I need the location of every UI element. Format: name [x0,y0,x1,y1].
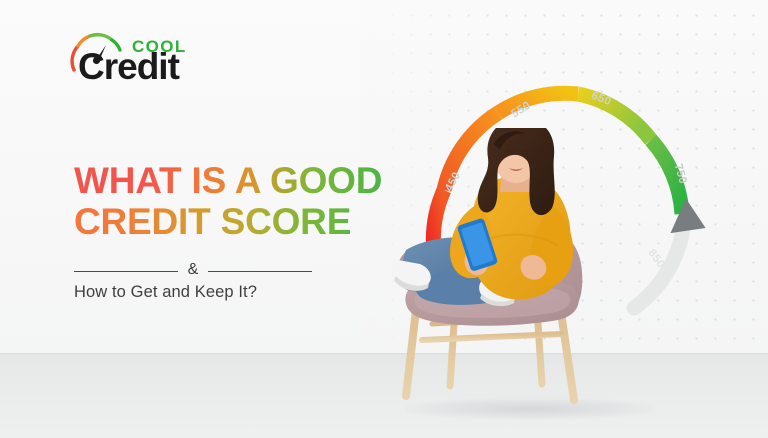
hero-photo-woman-with-phone [392,128,660,438]
divider-rule-left [74,271,178,272]
headline-divider: & [74,263,312,279]
brand-logo[interactable]: COOL Credit [66,26,241,84]
divider-ampersand: & [188,262,199,278]
headline-line-1: WHAT IS A GOOD [74,160,404,201]
divider-rule-right [208,271,312,272]
logo-main-word: Credit [78,46,180,84]
hero-subheadline: How to Get and Keep It? [74,283,257,302]
hero-headline: WHAT IS A GOOD CREDIT SCORE [74,160,404,242]
hero-banner: COOL Credit WHAT IS A GOOD CREDIT SCORE … [0,0,768,438]
headline-line-2: CREDIT SCORE [74,201,404,242]
